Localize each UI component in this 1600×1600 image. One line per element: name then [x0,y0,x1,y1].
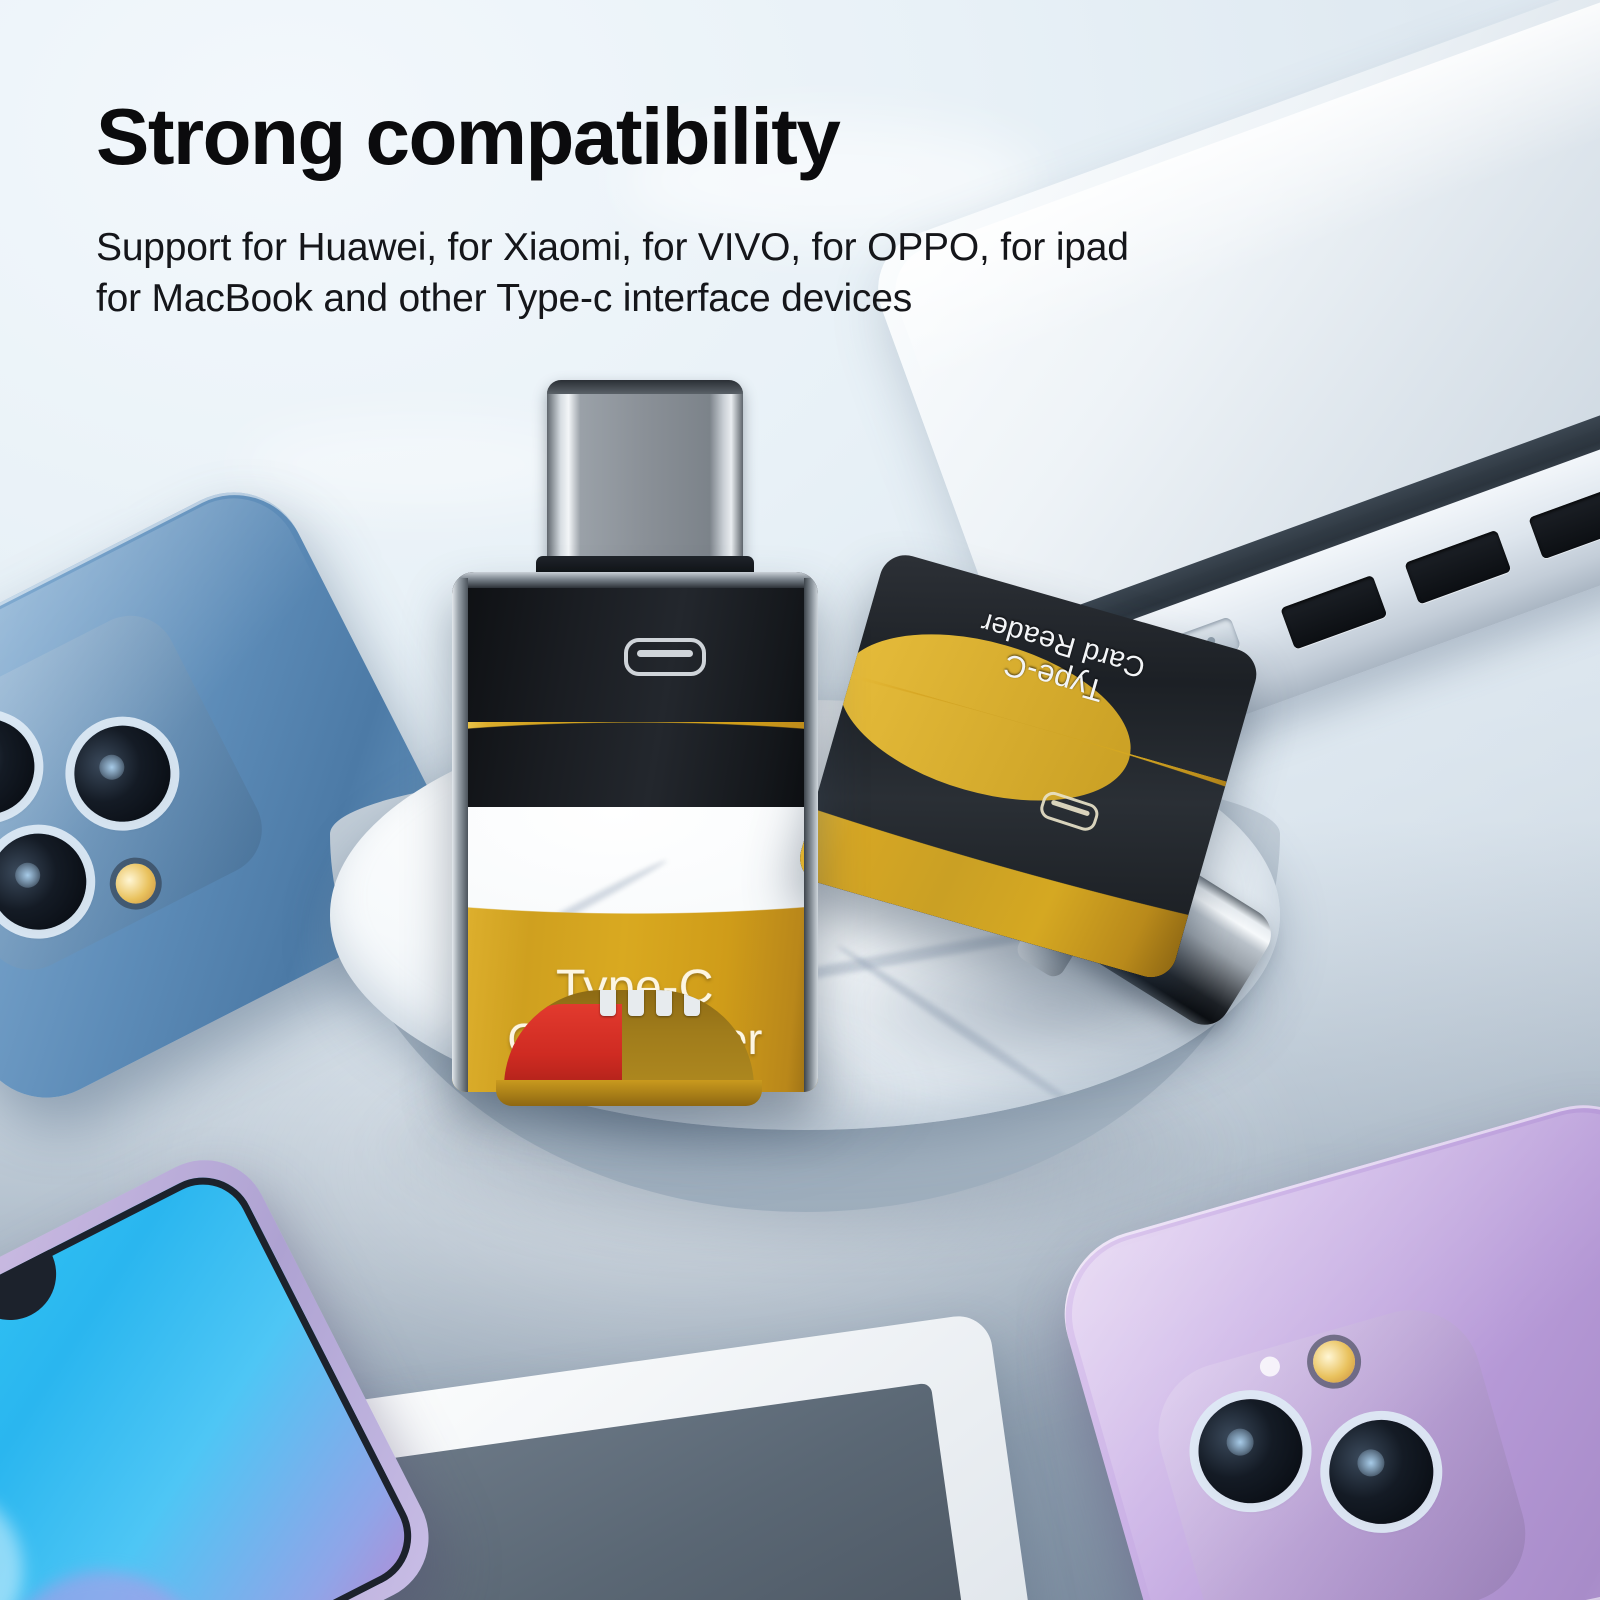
contact-pin [684,990,700,1016]
reader-right-edge [804,578,818,1092]
usb-a-port [1404,530,1511,605]
wallpaper-bubble [0,1456,52,1600]
marketing-copy: Strong compatibility Support for Huawei,… [96,96,1346,325]
usb-a-port [1528,485,1600,560]
contact-pin [656,990,672,1016]
reader-top-edge [452,572,818,588]
card-reader-primary: Type-C Card Reader [440,380,830,1110]
contact-pin [600,990,616,1016]
usb-c-port-icon [624,638,706,676]
subtitle: Support for Huawei, for Xiaomi, for VIVO… [96,222,1311,325]
wallpaper-bubble [0,1535,245,1600]
reader-left-edge [452,578,468,1092]
contact-pin [628,990,644,1016]
reader-bottom-lip [496,1080,762,1106]
product-banner: Type-C Card Reader Type-C Card Reader [0,0,1600,1600]
page-title: Strong compatibility [96,96,1346,178]
usb-c-plug [547,380,743,570]
subtitle-line-2: for MacBook and other Type-c interface d… [96,273,1311,324]
usb-a-port [1280,575,1387,650]
subtitle-line-1: Support for Huawei, for Xiaomi, for VIVO… [96,222,1311,273]
